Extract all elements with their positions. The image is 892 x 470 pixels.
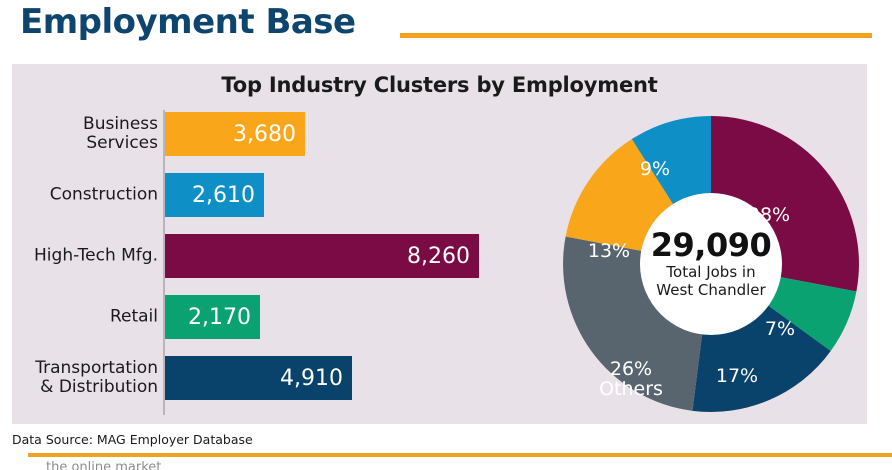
data-source-note: Data Source: MAG Employer Database — [12, 432, 253, 447]
donut-label-business-services: 13% — [588, 242, 630, 262]
donut-center-caption: Total Jobs in West Chandler — [636, 264, 786, 299]
page-title: Employment Base — [20, 2, 356, 42]
donut-chart: 28% 7% 17% 26% Others 13% 9% 29,090 Tota… — [555, 112, 867, 416]
bar-segment[interactable]: 4,910 — [165, 356, 352, 400]
bar-row: Retail 2,170 — [12, 291, 532, 343]
bar-value-label: 2,610 — [192, 183, 255, 208]
bar-category-label-line1: Construction — [12, 185, 158, 204]
bar-category-label: Construction — [12, 185, 158, 204]
chart-title: Top Industry Clusters by Employment — [12, 73, 867, 97]
footer-rule — [28, 453, 892, 457]
bar-chart: Business Services 3,680 Construction 2,6… — [12, 108, 532, 418]
donut-label-others-percent: 26% — [599, 360, 663, 380]
bar-segment[interactable]: 2,610 — [165, 173, 264, 217]
footer-clipped-text: the online market — [46, 460, 161, 470]
page-header: Employment Base — [0, 0, 892, 58]
bar-category-label: Business Services — [12, 115, 158, 153]
donut-label-high-tech-mfg: 28% — [748, 206, 790, 226]
bar-segment[interactable]: 8,260 — [165, 234, 479, 278]
bar-value-label: 8,260 — [407, 244, 470, 269]
title-underline-rule — [400, 33, 872, 38]
donut-total-jobs-value: 29,090 — [636, 229, 786, 261]
bar-category-label-line1: Retail — [12, 307, 158, 326]
bar-category-label: Retail — [12, 307, 158, 326]
bar-row: Construction 2,610 — [12, 169, 532, 221]
donut-caption-line1: Total Jobs in — [636, 264, 786, 282]
donut-label-retail: 7% — [765, 320, 795, 340]
bar-value-label: 4,910 — [280, 366, 343, 391]
donut-label-others: 26% Others — [599, 360, 663, 400]
donut-caption-line2: West Chandler — [636, 282, 786, 300]
bar-value-label: 3,680 — [233, 122, 296, 147]
donut-center-summary: 29,090 Total Jobs in West Chandler — [636, 229, 786, 299]
chart-card: Top Industry Clusters by Employment Busi… — [12, 64, 867, 424]
bar-category-label: Transportation & Distribution — [12, 359, 158, 397]
bar-row: Business Services 3,680 — [12, 108, 532, 160]
bar-segment[interactable]: 3,680 — [165, 112, 305, 156]
donut-label-others-name: Others — [599, 380, 663, 400]
bar-value-label: 2,170 — [188, 305, 251, 330]
bar-category-label-line2: & Distribution — [12, 378, 158, 397]
bar-category-label-line2: Services — [12, 134, 158, 153]
donut-label-construction: 9% — [640, 160, 670, 180]
bar-category-label-line1: Business — [12, 115, 158, 134]
bar-row: Transportation & Distribution 4,910 — [12, 352, 532, 404]
bar-category-label-line1: High-Tech Mfg. — [12, 246, 158, 265]
bar-row: High-Tech Mfg. 8,260 — [12, 230, 532, 282]
bar-category-label: High-Tech Mfg. — [12, 246, 158, 265]
bar-segment[interactable]: 2,170 — [165, 295, 260, 339]
bar-category-label-line1: Transportation — [12, 359, 158, 378]
donut-label-transportation-distribution: 17% — [716, 367, 758, 387]
